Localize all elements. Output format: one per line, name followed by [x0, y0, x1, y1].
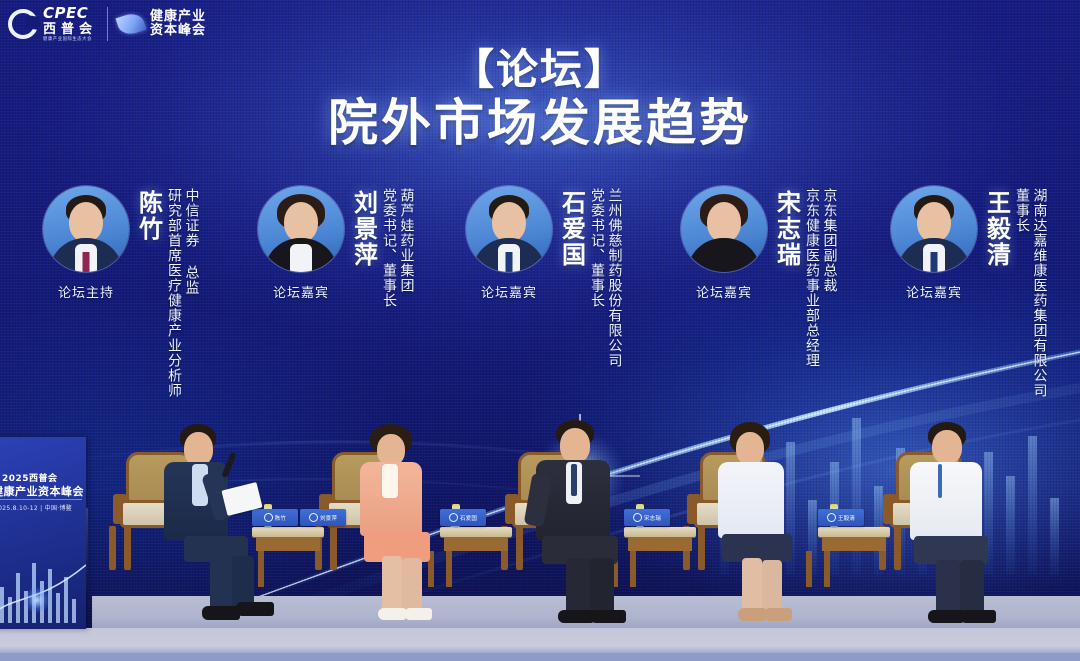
- nameplate-text: 宋志瑞: [644, 514, 661, 522]
- avatar: [258, 186, 344, 272]
- panelist-title-line: 湖南达嘉维康医药集团有限公司: [1031, 188, 1048, 398]
- panelist-title-line: 党委书记、董事长: [380, 188, 397, 308]
- cpec-circle-logo-icon: [309, 513, 318, 522]
- panelist-card: 论坛嘉宾 石爱国 兰州佛慈制药股份有限公司 党委书记、董事长: [453, 186, 623, 368]
- rollup-glow: [24, 587, 50, 613]
- panelist-card: 论坛嘉宾 王毅清 湖南达嘉维康医药集团有限公司 董事长: [878, 186, 1048, 398]
- rollup-line2: 健康产业资本峰会: [0, 483, 84, 499]
- rollup-line3: 2025.8.10-12 | 中国·博鳌: [0, 503, 72, 512]
- rollup-banner: 2025西普会 健康产业资本峰会 2025.8.10-12 | 中国·博鳌: [0, 437, 86, 629]
- panelist-name: 宋志瑞: [774, 190, 798, 268]
- panelist-name: 石爱国: [559, 190, 583, 268]
- forum-title-line1: 【论坛】: [0, 46, 1080, 93]
- health-summit-line2: 资本峰会: [150, 24, 206, 38]
- seated-person-guest: [348, 424, 458, 624]
- panelist-role: 论坛主持: [58, 282, 114, 301]
- rollup-rule: [0, 499, 82, 500]
- cpec-logo-en: CPEC: [43, 6, 97, 21]
- panelist-role: 论坛嘉宾: [906, 282, 962, 301]
- panelist-title-line: 董事长: [1013, 188, 1030, 398]
- seated-person-guest: [706, 422, 818, 626]
- panelist-name: 陈竹: [136, 190, 160, 242]
- avatar: [43, 186, 129, 272]
- panelist-title-line: 研究部首席医疗健康产业分析师: [165, 188, 182, 398]
- panelist-role: 论坛嘉宾: [481, 282, 537, 301]
- panelist-card: 论坛嘉宾 宋志瑞 京东集团副总裁 京东健康医药事业部总经理: [668, 186, 838, 368]
- logo-divider: [107, 7, 108, 41]
- nameplate: 王毅清: [818, 509, 864, 526]
- avatar: [891, 186, 977, 272]
- forum-title-block: 【论坛】 院外市场发展趋势: [0, 46, 1080, 153]
- panelist-title-line: 中信证券 总监: [183, 188, 200, 398]
- conference-stage-photo: CPEC 西普会 健康产业国际生态大会 健康产业 资本峰会 【论坛】 院外市场发…: [0, 0, 1080, 661]
- nameplate: 刘景萍: [300, 509, 346, 526]
- health-summit-line1: 健康产业: [150, 10, 206, 24]
- seated-person-moderator: [150, 424, 270, 624]
- health-summit-logo: 健康产业 资本峰会: [118, 10, 206, 38]
- panelist-name: 王毅清: [984, 190, 1008, 268]
- avatar: [681, 186, 767, 272]
- panelist-name: 刘景萍: [351, 190, 375, 268]
- nameplate-text: 刘景萍: [320, 514, 337, 522]
- stage-floor-edge: [0, 653, 1080, 661]
- panelist-role: 论坛嘉宾: [273, 282, 329, 301]
- leaf-icon: [116, 10, 147, 37]
- nameplate-text: 王毅清: [838, 514, 855, 522]
- header-logo-bar: CPEC 西普会 健康产业国际生态大会 健康产业 资本峰会: [8, 2, 206, 46]
- seated-person-guest: [526, 420, 646, 625]
- cpec-circle-logo-icon: [8, 9, 38, 39]
- cpec-logo-subtitle: 健康产业国际生态大会: [43, 38, 95, 42]
- panelist-card: 论坛主持 陈竹 中信证券 总监 研究部首席医疗健康产业分析师: [30, 186, 200, 398]
- panelist-title-line: 葫芦娃药业集团: [398, 188, 415, 308]
- panelist-title-line: 京东健康医药事业部总经理: [803, 188, 820, 368]
- seated-person-guest: [900, 422, 1018, 626]
- panelist-strip: 论坛主持 陈竹 中信证券 总监 研究部首席医疗健康产业分析师 论坛嘉宾 刘景萍 …: [0, 186, 1080, 426]
- panelist-role: 论坛嘉宾: [696, 282, 752, 301]
- cpec-circle-logo-icon: [827, 513, 836, 522]
- nameplate-text: 陈竹: [275, 514, 286, 522]
- cpec-logo-cn: 西普会: [43, 23, 97, 36]
- panelist-title-line: 兰州佛慈制药股份有限公司: [606, 188, 623, 368]
- panelist-title-line: 京东集团副总裁: [821, 188, 838, 368]
- panelist-title-line: 党委书记、董事长: [588, 188, 605, 368]
- nameplate-text: 石爱国: [460, 514, 477, 522]
- panelist-card: 论坛嘉宾 刘景萍 葫芦娃药业集团 党委书记、董事长: [245, 186, 415, 308]
- forum-title-line2: 院外市场发展趋势: [0, 95, 1080, 153]
- cpec-logo: CPEC 西普会 健康产业国际生态大会: [8, 6, 97, 43]
- avatar: [466, 186, 552, 272]
